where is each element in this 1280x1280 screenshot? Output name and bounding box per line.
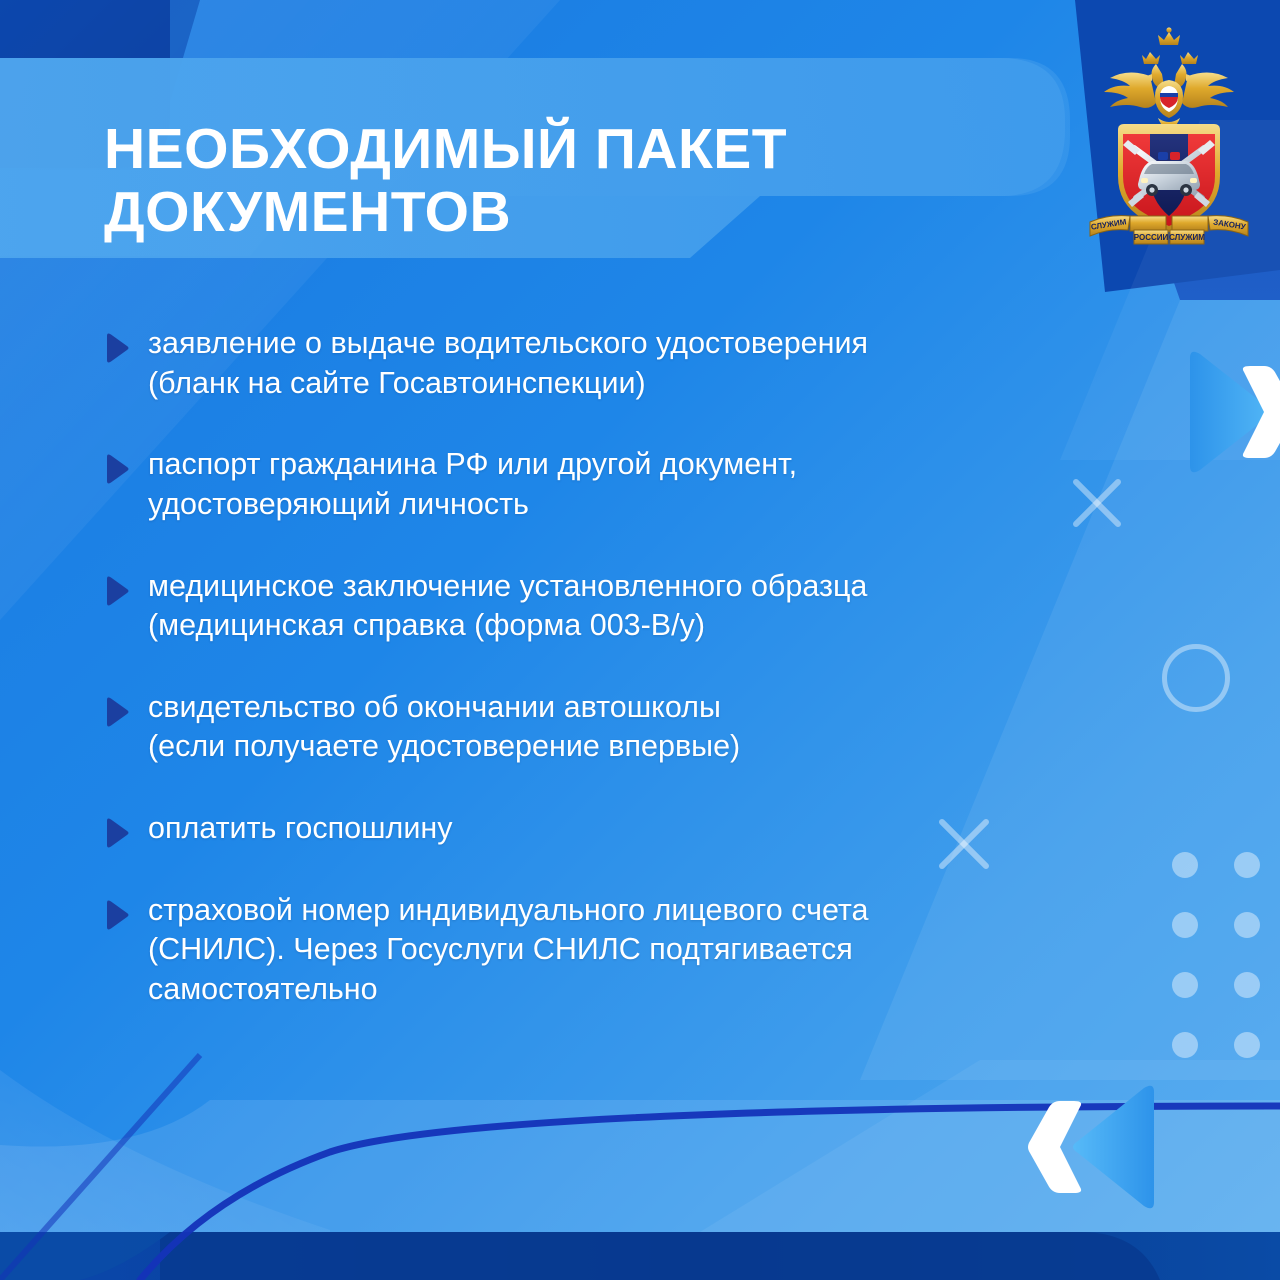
- list-item-1: заявление о выдаче водительского удостов…: [104, 324, 1114, 403]
- triangle-right-icon: [104, 697, 130, 727]
- page-title: НЕОБХОДИМЫЙ ПАКЕТ ДОКУМЕНТОВ: [104, 118, 944, 243]
- page-title-line-1: НЕОБХОДИМЫЙ ПАКЕТ: [104, 117, 787, 181]
- dot-grid-icon: [1172, 852, 1260, 1058]
- list-item-5: оплатить госпошлину: [104, 809, 1114, 849]
- chevron-left-icon: [1022, 1098, 1086, 1196]
- triangle-right-icon: [104, 576, 130, 606]
- list-item-3: медицинское заключение установленного об…: [104, 567, 1114, 646]
- list-item-label: страховой номер индивидуального лицевого…: [148, 891, 869, 1010]
- list-item-label: оплатить госпошлину: [148, 809, 452, 849]
- ribbon-text-center-bottom: СЛУЖИМ: [1169, 233, 1205, 242]
- documents-list: заявление о выдаче водительского удостов…: [104, 324, 1114, 1010]
- page-title-line-2: ДОКУМЕНТОВ: [104, 180, 511, 244]
- list-item-label: заявление о выдаче водительского удостов…: [148, 324, 868, 403]
- double-headed-eagle-icon: [1104, 27, 1234, 130]
- triangle-right-icon: [104, 454, 130, 484]
- mvd-gibdd-emblem: СЛУЖИМ ЗАКОНУ РОССИИ СЛУЖИМ: [1078, 26, 1260, 248]
- list-item-4: свидетельство об окончании автошколы (ес…: [104, 688, 1114, 767]
- chevron-right-icon: [1238, 364, 1280, 460]
- poster-canvas: СЛУЖИМ ЗАКОНУ РОССИИ СЛУЖИМ НЕОБХОДИМЫЙ …: [0, 0, 1280, 1280]
- triangle-right-icon: [104, 333, 130, 363]
- triangle-right-icon: [104, 818, 130, 848]
- triangle-right-icon: [104, 900, 130, 930]
- list-item-2: паспорт гражданина РФ или другой докумен…: [104, 445, 1114, 524]
- list-item-6: страховой номер индивидуального лицевого…: [104, 891, 1114, 1010]
- ribbon-text-center-top: РОССИИ: [1134, 233, 1169, 242]
- circle-outline-icon: [1162, 644, 1230, 712]
- list-item-label: паспорт гражданина РФ или другой докумен…: [148, 445, 797, 524]
- list-item-label: свидетельство об окончании автошколы (ес…: [148, 688, 740, 767]
- list-item-label: медицинское заключение установленного об…: [148, 567, 867, 646]
